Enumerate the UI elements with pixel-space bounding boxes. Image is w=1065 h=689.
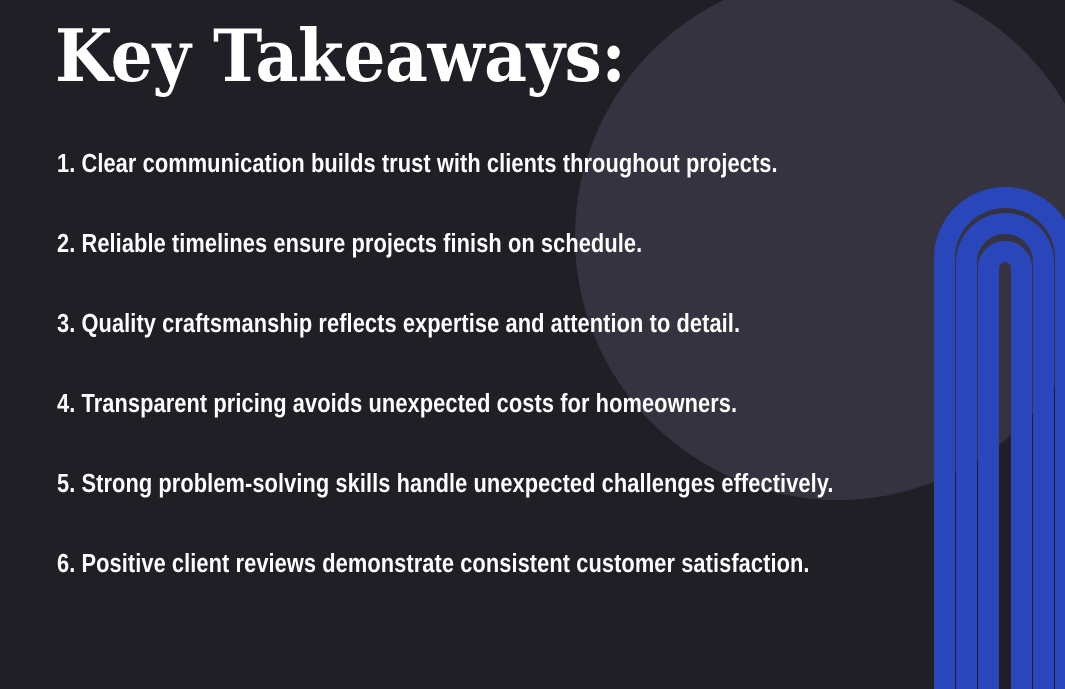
page-title: Key Takeaways: bbox=[55, 18, 625, 94]
list-item: 5. Strong problem-solving skills handle … bbox=[57, 468, 878, 548]
slide-canvas: Key Takeaways: 1. Clear communication bu… bbox=[0, 0, 1065, 689]
list-item: 4. Transparent pricing avoids unexpected… bbox=[57, 388, 878, 468]
list-item: 3. Quality craftsmanship reflects expert… bbox=[57, 308, 878, 388]
list-item: 2. Reliable timelines ensure projects fi… bbox=[57, 228, 878, 308]
content-layer: Key Takeaways: 1. Clear communication bu… bbox=[0, 0, 1065, 689]
list-item: 6. Positive client reviews demonstrate c… bbox=[57, 548, 878, 628]
list-item: 1. Clear communication builds trust with… bbox=[57, 148, 878, 228]
takeaways-list: 1. Clear communication builds trust with… bbox=[57, 148, 1017, 628]
